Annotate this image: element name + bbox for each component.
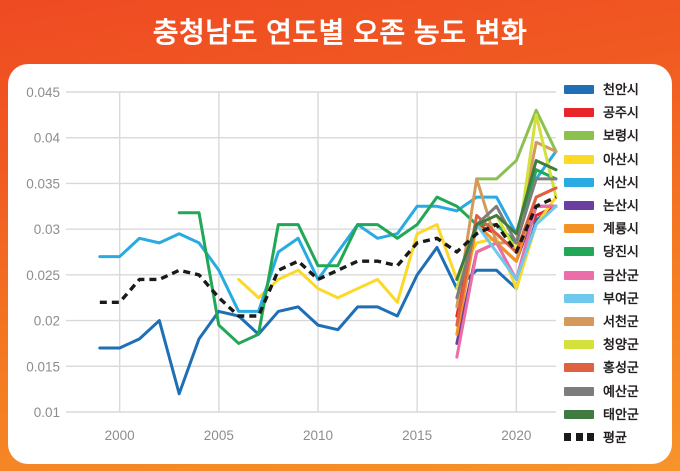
legend-item[interactable]: 청양군 (564, 333, 672, 356)
title-bar: 충청남도 연도별 오존 농도 변화 (0, 0, 680, 66)
legend-label: 청양군 (603, 338, 639, 351)
legend-swatch-9 (564, 271, 594, 280)
legend-swatch-7 (564, 224, 594, 233)
legend-swatch-2 (564, 108, 594, 117)
legend-swatch-12 (564, 340, 594, 349)
legend-swatch-4 (564, 155, 594, 164)
x-axis-tick-label: 2015 (402, 428, 432, 443)
page-title: 충청남도 연도별 오존 농도 변화 (153, 19, 528, 47)
y-axis-tick-label: 0.04 (34, 131, 61, 146)
legend-swatch-5 (564, 178, 594, 187)
y-axis-tick-label: 0.03 (34, 222, 60, 237)
legend-label: 천안시 (603, 83, 639, 96)
legend-item[interactable]: 홍성군 (564, 356, 672, 379)
y-axis-tick-label: 0.035 (26, 176, 60, 191)
legend-label: 보령시 (603, 129, 639, 142)
legend-item[interactable]: 부여군 (564, 287, 672, 310)
legend-label: 태안군 (603, 408, 639, 421)
y-axis-tick-label: 0.01 (34, 405, 60, 420)
legend-label: 서천군 (603, 315, 639, 328)
legend-label: 평균 (603, 431, 627, 444)
legend-label: 홍성군 (603, 361, 639, 374)
legend-label: 아산시 (603, 153, 639, 166)
legend-label: 금산군 (603, 269, 639, 282)
legend-label: 서산시 (603, 176, 639, 189)
legend-item[interactable]: 금산군 (564, 264, 672, 287)
legend-item[interactable]: 태안군 (564, 403, 672, 426)
x-axis-tick-label: 2010 (303, 428, 333, 443)
legend-item[interactable]: 예산군 (564, 379, 672, 402)
legend-label: 예산군 (603, 385, 639, 398)
legend-swatch-14 (564, 387, 594, 396)
legend-swatch-16 (564, 433, 594, 442)
legend-item[interactable]: 보령시 (564, 124, 672, 147)
series-line (239, 197, 556, 302)
axis-labels: 0.010.0150.020.0250.030.0350.040.0452000… (26, 85, 531, 443)
legend-item[interactable]: 서천군 (564, 310, 672, 333)
legend-item[interactable]: 논산시 (564, 194, 672, 217)
legend-item[interactable]: 당진시 (564, 240, 672, 263)
legend-swatch-15 (564, 410, 594, 419)
y-axis-tick-label: 0.015 (26, 359, 60, 374)
plot-area: 0.010.0150.020.0250.030.0350.040.0452000… (8, 64, 568, 464)
line-chart: 0.010.0150.020.0250.030.0350.040.0452000… (8, 64, 568, 464)
chart-card: 0.010.0150.020.0250.030.0350.040.0452000… (8, 64, 672, 464)
legend-swatch-10 (564, 294, 594, 303)
chart-legend: 천안시공주시보령시아산시서산시논산시계룡시당진시금산군부여군서천군청양군홍성군예… (564, 78, 672, 450)
legend-label: 공주시 (603, 106, 639, 119)
legend-label: 부여군 (603, 292, 639, 305)
legend-item[interactable]: 아산시 (564, 148, 672, 171)
x-axis-tick-label: 2000 (105, 428, 135, 443)
legend-swatch-6 (564, 201, 594, 210)
legend-swatch-3 (564, 131, 594, 140)
legend-item[interactable]: 계룡시 (564, 217, 672, 240)
x-axis-tick-label: 2020 (501, 428, 531, 443)
legend-label: 계룡시 (603, 222, 639, 235)
legend-swatch-8 (564, 247, 594, 256)
series-group (100, 110, 556, 393)
legend-swatch-11 (564, 317, 594, 326)
x-axis-tick-label: 2005 (204, 428, 234, 443)
legend-label: 논산시 (603, 199, 639, 212)
y-axis-tick-label: 0.025 (26, 268, 60, 283)
legend-item[interactable]: 공주시 (564, 101, 672, 124)
legend-swatch-13 (564, 363, 594, 372)
legend-item[interactable]: 천안시 (564, 78, 672, 101)
legend-item[interactable]: 서산시 (564, 171, 672, 194)
legend-item[interactable]: 평균 (564, 426, 672, 449)
y-axis-tick-label: 0.045 (26, 85, 60, 100)
legend-swatch-1 (564, 85, 594, 94)
series-line (100, 151, 556, 311)
y-axis-tick-label: 0.02 (34, 314, 60, 329)
legend-label: 당진시 (603, 245, 639, 258)
chart-page: 충청남도 연도별 오존 농도 변화 0.010.0150.020.0250.03… (0, 0, 680, 471)
